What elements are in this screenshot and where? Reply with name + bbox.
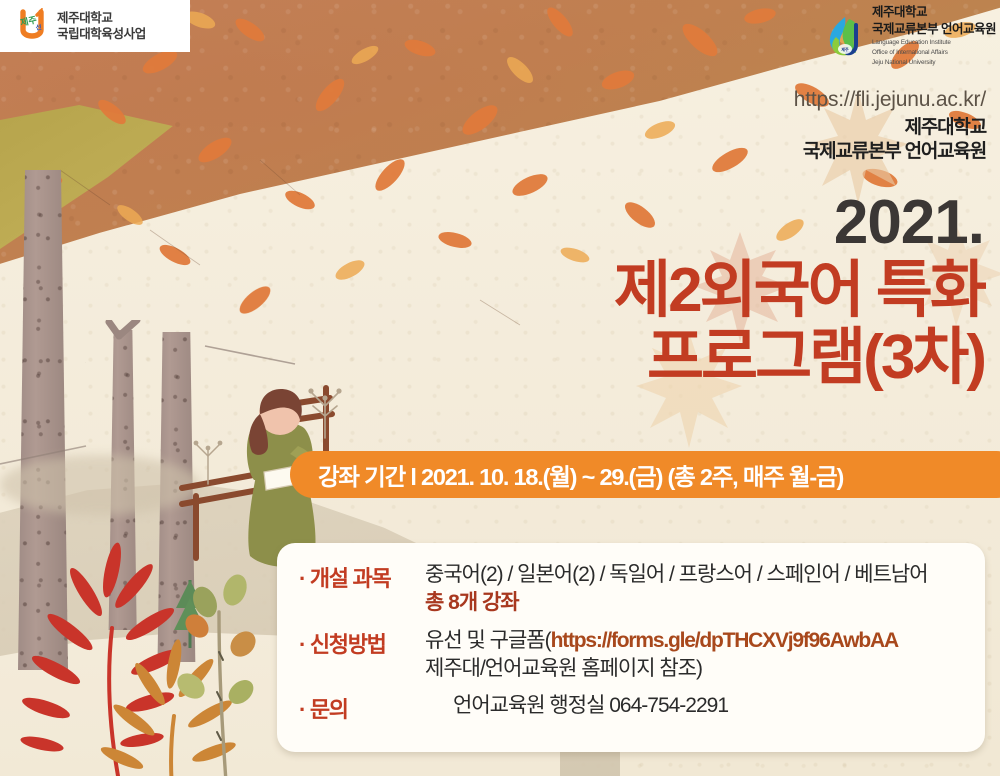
subjects-total: 총 8개 강좌 [425, 589, 928, 617]
info-row-application: · 신청방법 유선 및 구글폼(https://forms.gle/dpTHCX… [299, 627, 985, 684]
application-line2: 제주대/언어교육원 홈페이지 참조) [425, 655, 898, 683]
application-label: · 신청방법 [299, 627, 425, 659]
left-logo-line1: 제주대학교 [57, 10, 146, 27]
right-logo-text-block: 제주대학교 국제교류본부 언어교육원 Language Education In… [872, 4, 996, 68]
title-line2: 프로그램(3차) [614, 325, 984, 392]
jeju-u-mark-icon: 제주 선 [14, 8, 50, 44]
jnu-en-line2: Office of International Affairs [872, 49, 996, 58]
grass-tuft-icon-a [295, 382, 365, 442]
title-line1: 제2외국어 특화 [614, 258, 984, 325]
subjects-list: 중국어(2) / 일본어(2) / 독일어 / 프랑스어 / 스페인어 / 베트… [425, 561, 928, 589]
subjects-label: · 개설 과목 [299, 561, 425, 593]
application-prefix: 유선 및 구글폼( [425, 629, 551, 652]
svg-text:제주: 제주 [841, 46, 849, 52]
grass-tuft-icon-b [180, 430, 250, 490]
left-logo-text: 제주대학교 국립대학육성사업 [57, 10, 146, 43]
subjects-body: 중국어(2) / 일본어(2) / 독일어 / 프랑스어 / 스페인어 / 베트… [425, 561, 928, 618]
info-row-subjects: · 개설 과목 중국어(2) / 일본어(2) / 독일어 / 프랑스어 / 스… [299, 561, 985, 618]
contact-label: · 문의 [299, 692, 425, 724]
institution-line1: 제주대학교 [803, 116, 986, 140]
website-url[interactable]: https://fli.jejunu.ac.kr/ [794, 88, 986, 112]
jeju-national-university-project-logo: 제주 선 제주대학교 국립대학육성사업 [0, 0, 190, 52]
course-period-banner: 강좌 기간 l 2021. 10. 18.(월) ~ 29.(금) (총 2주,… [290, 451, 1000, 498]
jnu-kr-line1: 제주대학교 [872, 4, 996, 21]
jnu-en-line3: Jeju National University [872, 59, 996, 68]
jnu-en-line1: Language Education Institute [872, 39, 996, 48]
institution-line2: 국제교류본부 언어교육원 [803, 140, 986, 164]
jnu-kr-line2: 국제교류본부 언어교육원 [872, 21, 996, 38]
institution-name: 제주대학교 국제교류본부 언어교육원 [803, 116, 986, 165]
application-body: 유선 및 구글폼(https://forms.gle/dpTHCXVj9f96A… [425, 627, 898, 684]
info-row-contact: · 문의 언어교육원 행정실 064-754-2291 [299, 692, 985, 724]
application-line1: 유선 및 구글폼(https://forms.gle/dpTHCXVj9f96A… [425, 627, 898, 655]
google-form-url[interactable]: https://forms.gle/dpTHCXVj9f96AwbAA [551, 629, 898, 652]
page-title: 제2외국어 특화 프로그램(3차) [614, 258, 984, 392]
title-year: 2021. [834, 192, 984, 254]
language-education-institute-logo: 제주 제주대학교 국제교류본부 언어교육원 Language Education… [825, 4, 996, 68]
info-panel: · 개설 과목 중국어(2) / 일본어(2) / 독일어 / 프랑스어 / 스… [277, 543, 985, 752]
poster-canvas: 제주 선 제주대학교 국립대학육성사업 제주 제주대학교 국제교류본부 언어교육… [0, 0, 1000, 776]
contact-body: 언어교육원 행정실 064-754-2291 [453, 692, 728, 720]
left-logo-line2: 국립대학육성사업 [57, 26, 146, 43]
jnu-flame-icon: 제주 [825, 15, 865, 57]
olive-leaf-branch-icon [165, 560, 295, 776]
